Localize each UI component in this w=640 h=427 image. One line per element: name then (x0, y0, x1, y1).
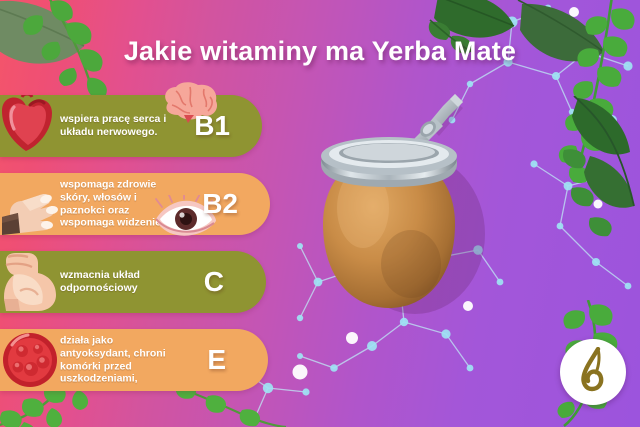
page-title: Jakie witaminy ma Yerba Mate (0, 36, 640, 67)
yerba-mate-gourd-graphic (303, 84, 493, 324)
leaf-decoration-top-right-2 (516, 0, 640, 191)
vitamin-label-wrap-e: E (0, 329, 268, 391)
vitamin-label-wrap-c: C (0, 251, 266, 313)
leaf-decoration-right (560, 96, 640, 251)
vitamin-label-e: E (207, 346, 226, 374)
logo-mark-icon (570, 347, 616, 397)
brand-logo[interactable] (560, 339, 626, 405)
vitamin-label-b2: B2 (202, 190, 238, 218)
vitamin-label-wrap-b1: B1 (0, 95, 262, 157)
infographic-canvas: Jakie witaminy ma Yerba Mate (0, 0, 640, 427)
vitamin-label-b1: B1 (194, 112, 230, 140)
vitamin-label-c: C (204, 268, 224, 296)
vitamin-label-wrap-b2: B2 (0, 173, 270, 235)
